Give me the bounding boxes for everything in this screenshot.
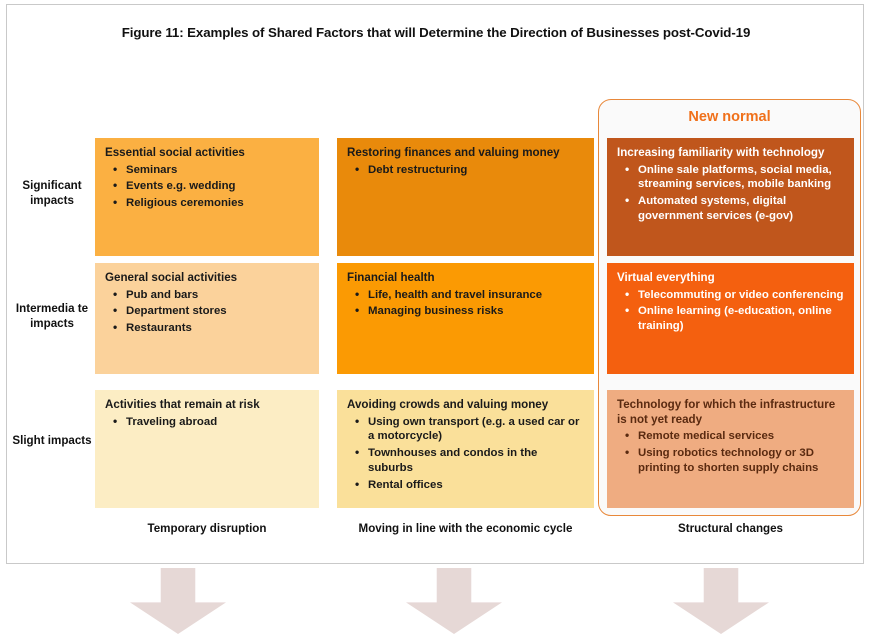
cell-list-item: Managing business risks (347, 304, 585, 319)
cell-heading: General social activities (105, 271, 310, 286)
cell-list-item: Remote medical services (617, 429, 845, 444)
cell-list-item: Events e.g. wedding (105, 179, 310, 194)
cell-structural-intermediate: Virtual everything Telecommuting or vide… (607, 263, 854, 374)
cell-list: Traveling abroad (105, 415, 310, 430)
cell-list-item: Religious ceremonies (105, 196, 310, 211)
cell-list-item: Traveling abroad (105, 415, 310, 430)
cell-list-item: Using robotics technology or 3D printing… (617, 446, 845, 476)
down-arrow-icon (673, 568, 769, 634)
down-arrow-icon (130, 568, 226, 634)
page-title: Figure 11: Examples of Shared Factors th… (7, 25, 865, 40)
cell-list: Telecommuting or video conferencingOnlin… (617, 288, 845, 334)
new-normal-label: New normal (598, 109, 861, 125)
cell-temporary-significant: Essential social activities SeminarsEven… (95, 138, 319, 256)
cell-structural-slight: Technology for which the infrastructure … (607, 390, 854, 508)
cell-heading: Virtual everything (617, 271, 845, 286)
row-label-intermediate-impacts: Intermedia te impacts (11, 302, 93, 413)
column-caption-structural-changes: Structural changes (607, 521, 854, 536)
cell-list: Life, health and travel insuranceManagin… (347, 288, 585, 320)
cell-heading: Restoring finances and valuing money (347, 146, 585, 161)
cell-heading: Activities that remain at risk (105, 398, 310, 413)
cell-structural-significant: Increasing familiarity with technology O… (607, 138, 854, 256)
cell-list-item: Debt restructuring (347, 163, 585, 178)
cell-list-item: Rental offices (347, 478, 585, 493)
figure-root: Figure 11: Examples of Shared Factors th… (0, 0, 870, 636)
cell-list-item: Seminars (105, 163, 310, 178)
cell-list-item: Pub and bars (105, 288, 310, 303)
cell-list: Remote medical servicesUsing robotics te… (617, 429, 845, 475)
cell-list-item: Restaurants (105, 321, 310, 336)
cell-economic-slight: Avoiding crowds and valuing money Using … (337, 390, 594, 508)
cell-list-item: Online sale platforms, social media, str… (617, 163, 845, 193)
cell-list-item: Life, health and travel insurance (347, 288, 585, 303)
cell-list-item: Automated systems, digital government se… (617, 194, 845, 224)
cell-list: Debt restructuring (347, 163, 585, 178)
down-arrow-icon (406, 568, 502, 634)
column-caption-temporary-disruption: Temporary disruption (95, 521, 319, 536)
cell-heading: Technology for which the infrastructure … (617, 398, 845, 427)
cell-list-item: Using own transport (e.g. a used car or … (347, 415, 585, 445)
cell-list: SeminarsEvents e.g. weddingReligious cer… (105, 163, 310, 211)
row-label-slight-impacts: Slight impacts (11, 434, 93, 552)
cell-list-item: Online learning (e-education, online tra… (617, 304, 845, 334)
cell-heading: Avoiding crowds and valuing money (347, 398, 585, 413)
cell-list-item: Townhouses and condos in the suburbs (347, 446, 585, 476)
row-label-significant-impacts: Significant impacts (11, 179, 93, 297)
figure-panel: Figure 11: Examples of Shared Factors th… (6, 4, 864, 564)
cell-temporary-intermediate: General social activities Pub and barsDe… (95, 263, 319, 374)
cell-economic-significant: Restoring finances and valuing money Deb… (337, 138, 594, 256)
cell-list: Online sale platforms, social media, str… (617, 163, 845, 224)
cell-list: Pub and barsDepartment storesRestaurants (105, 288, 310, 336)
cell-heading: Essential social activities (105, 146, 310, 161)
cell-economic-intermediate: Financial health Life, health and travel… (337, 263, 594, 374)
cell-list-item: Telecommuting or video conferencing (617, 288, 845, 303)
cell-list-item: Department stores (105, 304, 310, 319)
cell-list: Using own transport (e.g. a used car or … (347, 415, 585, 493)
cell-heading: Financial health (347, 271, 585, 286)
cell-temporary-slight: Activities that remain at risk Traveling… (95, 390, 319, 508)
column-caption-economic-cycle: Moving in line with the economic cycle (337, 521, 594, 536)
cell-heading: Increasing familiarity with technology (617, 146, 845, 161)
